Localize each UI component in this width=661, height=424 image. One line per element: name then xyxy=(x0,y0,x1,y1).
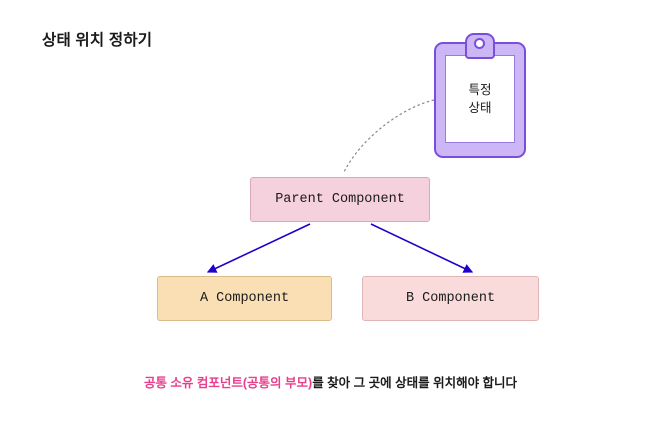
node-a-component[interactable]: A Component xyxy=(157,276,332,321)
caption-rest: 를 찾아 그 곳에 상태를 위치해야 합니다 xyxy=(312,376,517,390)
clipboard-icon: 특정 상태 xyxy=(434,33,526,158)
node-parent-label: Parent Component xyxy=(275,192,405,207)
state-label-line2: 상태 xyxy=(468,99,491,117)
node-a-label: A Component xyxy=(200,291,289,306)
caption: 공통 소유 컴포넌트(공통의 부모)를 찾아 그 곳에 상태를 위치해야 합니다 xyxy=(0,372,661,391)
clipboard-paper: 특정 상태 xyxy=(445,55,515,143)
node-b-component[interactable]: B Component xyxy=(362,276,539,321)
dotted-connector-state-to-parent xyxy=(344,100,434,172)
arrow-parent-to-b xyxy=(371,224,472,272)
caption-highlight: 공통 소유 컴포넌트(공통의 부모) xyxy=(144,376,312,390)
node-b-label: B Component xyxy=(406,291,495,306)
state-label-line1: 특정 xyxy=(468,81,491,99)
node-parent-component[interactable]: Parent Component xyxy=(250,177,430,222)
clipboard-clip-hole xyxy=(474,38,485,49)
arrow-parent-to-a xyxy=(208,224,310,272)
diagram-canvas: 상태 위치 정하기 특정 상태 Parent Component A Compo… xyxy=(0,0,661,424)
